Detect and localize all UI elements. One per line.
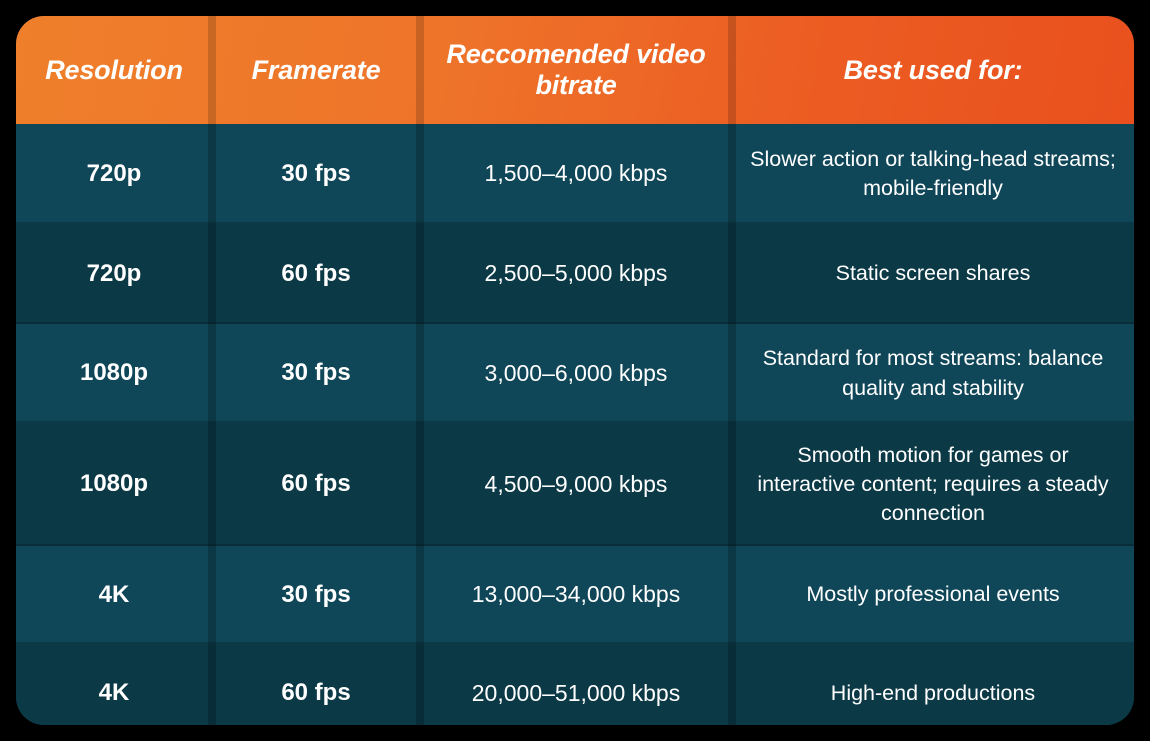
cell-value: 2,500–5,000 kbps: [485, 258, 668, 289]
cell-framerate: 60 fps: [212, 423, 420, 546]
cell-best-used-for: Static screen shares: [732, 224, 1134, 324]
column-header-label: Framerate: [252, 55, 381, 86]
cell-value: Smooth motion for games or interactive c…: [746, 441, 1120, 529]
cell-best-used-for: Mostly professional events: [732, 546, 1134, 644]
cell-resolution: 4K: [16, 546, 212, 644]
cell-value: 60 fps: [281, 468, 350, 501]
cell-value: 3,000–6,000 kbps: [485, 358, 668, 389]
cell-value: 13,000–34,000 kbps: [472, 579, 680, 610]
cell-value: 720p: [87, 258, 142, 291]
column-header-framerate: Framerate: [212, 16, 420, 124]
streaming-bitrate-table: Resolution Framerate Reccomended video b…: [16, 16, 1134, 725]
cell-value: 30 fps: [281, 158, 350, 191]
column-header-resolution: Resolution: [16, 16, 212, 124]
cell-best-used-for: Slower action or talking-head streams; m…: [732, 124, 1134, 224]
table-row: 1080p 30 fps 3,000–6,000 kbps Standard f…: [16, 324, 1134, 423]
cell-resolution: 1080p: [16, 324, 212, 423]
cell-value: High-end productions: [831, 679, 1035, 708]
cell-bitrate: 2,500–5,000 kbps: [420, 224, 732, 324]
column-header-label: Reccomended video bitrate: [430, 39, 722, 101]
cell-bitrate: 1,500–4,000 kbps: [420, 124, 732, 224]
cell-bitrate: 4,500–9,000 kbps: [420, 423, 732, 546]
cell-resolution: 720p: [16, 124, 212, 224]
cell-value: 60 fps: [281, 677, 350, 710]
table-row: 1080p 60 fps 4,500–9,000 kbps Smooth mot…: [16, 423, 1134, 546]
cell-framerate: 30 fps: [212, 324, 420, 423]
column-header-label: Best used for:: [844, 55, 1023, 86]
cell-value: 4K: [99, 677, 130, 710]
cell-value: 4,500–9,000 kbps: [485, 469, 668, 500]
cell-bitrate: 20,000–51,000 kbps: [420, 644, 732, 725]
cell-value: 1080p: [80, 468, 148, 501]
table-row: 4K 30 fps 13,000–34,000 kbps Mostly prof…: [16, 546, 1134, 644]
cell-best-used-for: High-end productions: [732, 644, 1134, 725]
column-header-label: Resolution: [45, 55, 183, 86]
cell-value: 30 fps: [281, 357, 350, 390]
cell-best-used-for: Smooth motion for games or interactive c…: [732, 423, 1134, 546]
table-row: 720p 30 fps 1,500–4,000 kbps Slower acti…: [16, 124, 1134, 224]
table-row: 720p 60 fps 2,500–5,000 kbps Static scre…: [16, 224, 1134, 324]
cell-bitrate: 13,000–34,000 kbps: [420, 546, 732, 644]
cell-value: 1080p: [80, 357, 148, 390]
column-header-bitrate: Reccomended video bitrate: [420, 16, 732, 124]
cell-value: Slower action or talking-head streams; m…: [746, 145, 1120, 203]
cell-bitrate: 3,000–6,000 kbps: [420, 324, 732, 423]
cell-value: Mostly professional events: [806, 580, 1059, 609]
cell-value: Standard for most streams: balance quali…: [746, 344, 1120, 402]
cell-value: 4K: [99, 579, 130, 612]
cell-framerate: 60 fps: [212, 224, 420, 324]
cell-value: 720p: [87, 158, 142, 191]
cell-framerate: 60 fps: [212, 644, 420, 725]
table-body: 720p 30 fps 1,500–4,000 kbps Slower acti…: [16, 124, 1134, 725]
cell-framerate: 30 fps: [212, 546, 420, 644]
cell-value: 1,500–4,000 kbps: [485, 158, 668, 189]
cell-resolution: 720p: [16, 224, 212, 324]
table-header-row: Resolution Framerate Reccomended video b…: [16, 16, 1134, 124]
cell-best-used-for: Standard for most streams: balance quali…: [732, 324, 1134, 423]
cell-resolution: 1080p: [16, 423, 212, 546]
cell-resolution: 4K: [16, 644, 212, 725]
cell-value: 60 fps: [281, 258, 350, 291]
cell-value: 20,000–51,000 kbps: [472, 678, 680, 709]
cell-value: 30 fps: [281, 579, 350, 612]
cell-value: Static screen shares: [836, 259, 1031, 288]
table-row: 4K 60 fps 20,000–51,000 kbps High-end pr…: [16, 644, 1134, 725]
column-header-best-used-for: Best used for:: [732, 16, 1134, 124]
cell-framerate: 30 fps: [212, 124, 420, 224]
